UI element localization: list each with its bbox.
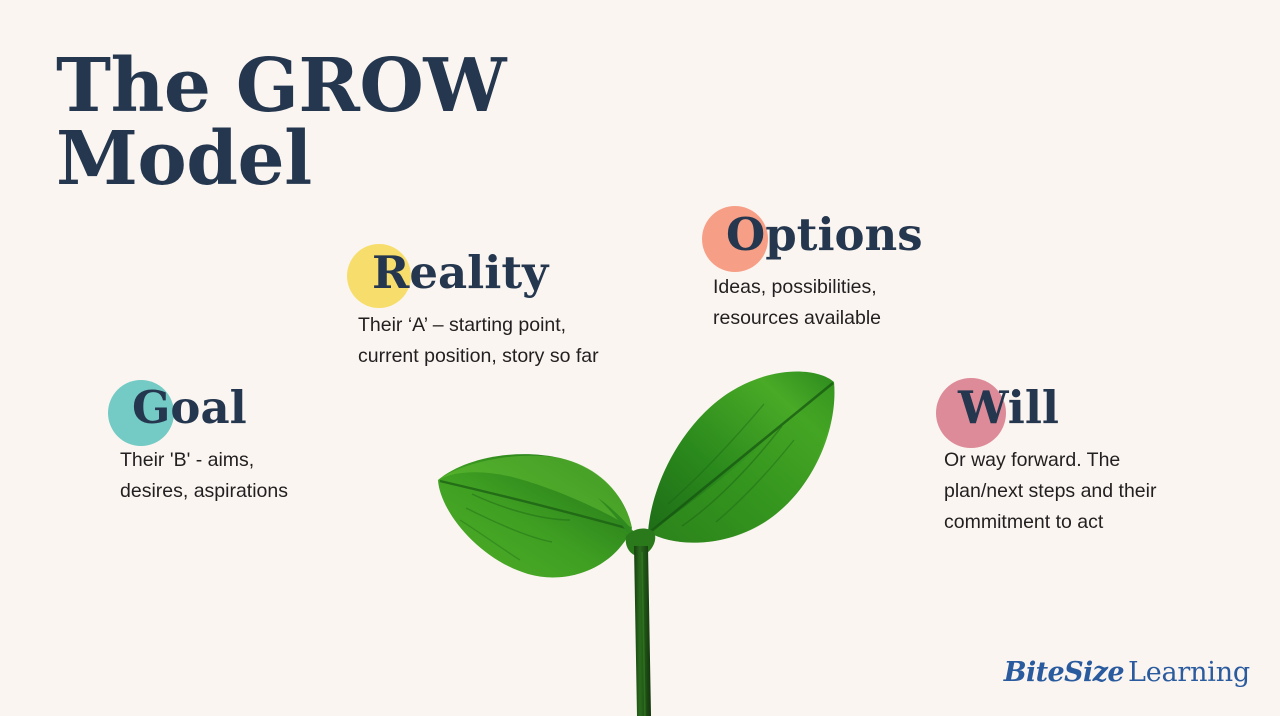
- step-will-heading: Will: [944, 385, 1059, 430]
- step-will-heading-label: Will: [958, 381, 1059, 434]
- step-goal-heading: Goal: [118, 385, 247, 430]
- seedling-sprout-illustration: [420, 370, 860, 716]
- step-options: Options Ideas, possibilities, resources …: [712, 212, 923, 334]
- brand-logo: BiteSizeLearning: [1004, 657, 1250, 688]
- slide-canvas: The GROW Model: [0, 0, 1280, 716]
- left-leaf-shape: [438, 454, 632, 577]
- step-goal: Goal Their 'B' - aims, desires, aspirati…: [118, 385, 288, 507]
- stem-shape: [634, 546, 651, 716]
- stem-node-shape: [626, 529, 656, 557]
- step-reality-heading: Reality: [358, 250, 548, 295]
- step-reality-description: Their ‘A’ – starting point, current posi…: [358, 310, 599, 372]
- stem-highlight-shape: [642, 552, 645, 716]
- page-title: The GROW Model: [56, 50, 576, 195]
- brand-logo-word: Learning: [1128, 657, 1250, 688]
- brand-logo-mark: BiteSize: [1004, 657, 1124, 688]
- step-options-description: Ideas, possibilities, resources availabl…: [713, 272, 923, 334]
- step-goal-description: Their 'B' - aims, desires, aspirations: [120, 445, 288, 507]
- right-leaf-shape: [648, 372, 834, 543]
- step-goal-heading-label: Goal: [132, 381, 247, 434]
- step-options-heading-label: Options: [726, 208, 923, 261]
- side-shoot-shape: [598, 498, 634, 540]
- step-reality-heading-label: Reality: [372, 246, 548, 299]
- step-will-description: Or way forward. The plan/next steps and …: [944, 445, 1156, 537]
- step-will: Will Or way forward. The plan/next steps…: [944, 385, 1156, 537]
- step-reality: Reality Their ‘A’ – starting point, curr…: [358, 250, 599, 372]
- step-options-heading: Options: [712, 212, 923, 257]
